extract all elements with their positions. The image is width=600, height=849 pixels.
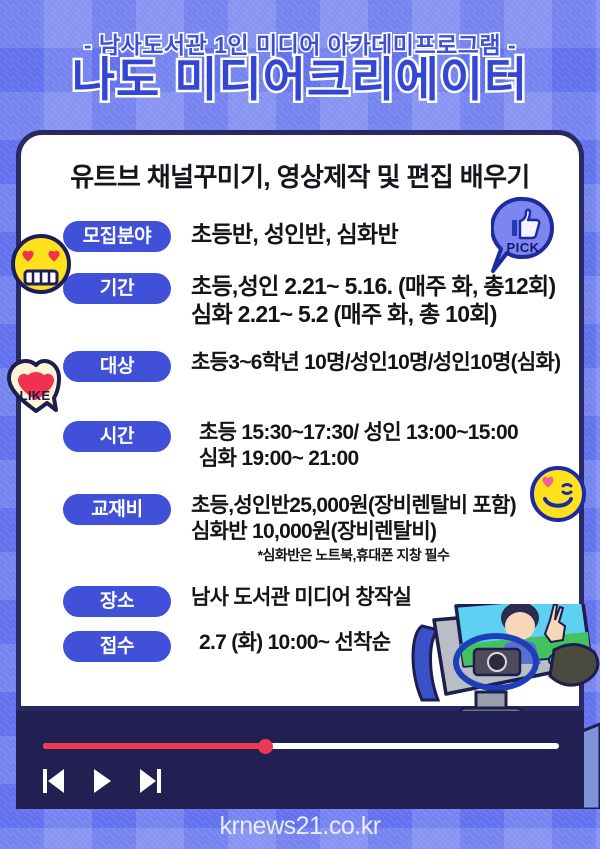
- heart-eyes-emoji-icon: [10, 233, 72, 295]
- playback-controls: [43, 768, 161, 794]
- row-values: 초등,성인반25,000원(장비렌탈비 포함) 심화반 10,000원(장비렌탈…: [191, 493, 516, 565]
- row-value-line: 초등,성인반25,000원(장비렌탈비 포함): [191, 493, 516, 519]
- header-title: 나도 미디어크리에이터: [0, 56, 600, 103]
- like-label: LIKE: [7, 388, 63, 403]
- row-value-line: 남사 도서관 미디어 창작실: [191, 585, 411, 611]
- media-player-bar: [16, 711, 584, 809]
- info-row: 접수 2.7 (화) 10:00~ 선착순: [63, 630, 390, 662]
- info-row: 대상 초등3~6학년 10명/성인10명/성인10명(심화): [63, 350, 560, 382]
- row-values: 남사 도서관 미디어 창작실: [191, 585, 411, 611]
- row-value-line: 초등,성인 2.21~ 5.16. (매주 화, 총12회): [191, 272, 555, 300]
- poster-root: - 남사도서관 1인 미디어 아카데미프로그램 - 나도 미디어크리에이터 유트…: [0, 0, 600, 849]
- row-value-line: 심화 19:00~ 21:00: [199, 446, 518, 472]
- row-values: 2.7 (화) 10:00~ 선착순: [191, 630, 390, 656]
- progress-fill: [43, 743, 265, 749]
- row-values: 초등3~6학년 10명/성인10명/성인10명(심화): [191, 350, 560, 376]
- row-value-line: 심화반 10,000원(장비렌탈비): [191, 519, 516, 545]
- next-track-icon[interactable]: [139, 768, 161, 794]
- row-label-registration: 접수: [63, 631, 171, 662]
- previous-track-icon[interactable]: [43, 768, 65, 794]
- pick-label: PICK: [491, 240, 555, 255]
- play-icon[interactable]: [91, 768, 113, 794]
- row-value-line: 초등3~6학년 10명/성인10명/성인10명(심화): [191, 350, 560, 376]
- card-subtitle: 유트브 채널꾸미기, 영상제작 및 편집 배우기: [21, 157, 579, 194]
- row-value-line: 초등 15:30~17:30/ 성인 13:00~15:00: [199, 420, 518, 446]
- row-label-target: 대상: [63, 351, 171, 382]
- row-values: 초등반, 성인반, 심화반: [191, 220, 398, 248]
- row-value-note: *심화반은 노트북,휴대폰 지창 필수: [191, 545, 516, 565]
- row-values: 초등 15:30~17:30/ 성인 13:00~15:00 심화 19:00~…: [191, 420, 518, 472]
- row-label-recruit-field: 모집분야: [63, 221, 171, 252]
- row-value-line: 2.7 (화) 10:00~ 선착순: [199, 630, 390, 656]
- row-label-period: 기간: [63, 273, 171, 304]
- info-row: 모집분야 초등반, 성인반, 심화반: [63, 220, 398, 252]
- info-row: 기간 초등,성인 2.21~ 5.16. (매주 화, 총12회) 심화 2.2…: [63, 272, 555, 328]
- row-label-material-fee: 교재비: [63, 494, 171, 525]
- info-row: 장소 남사 도서관 미디어 창작실: [63, 585, 411, 617]
- row-label-location: 장소: [63, 586, 171, 617]
- like-heart-sticker: LIKE: [3, 358, 75, 426]
- info-row: 교재비 초등,성인반25,000원(장비렌탈비 포함) 심화반 10,000원(…: [63, 493, 516, 565]
- row-value-line: 초등반, 성인반, 심화반: [191, 220, 398, 248]
- row-label-time: 시간: [63, 421, 171, 452]
- progress-knob[interactable]: [258, 739, 273, 754]
- wink-smiley-sticker: [528, 464, 588, 524]
- progress-slider[interactable]: [43, 743, 559, 749]
- info-row: 시간 초등 15:30~17:30/ 성인 13:00~15:00 심화 19:…: [63, 420, 518, 472]
- pick-badge-sticker: PICK: [491, 196, 563, 276]
- poster-header: - 남사도서관 1인 미디어 아카데미프로그램 - 나도 미디어크리에이터: [0, 0, 600, 124]
- row-values: 초등,성인 2.21~ 5.16. (매주 화, 총12회) 심화 2.21~ …: [191, 272, 555, 328]
- heart-eyes-emoji-sticker: [10, 233, 72, 295]
- pick-thumbs-up-icon: [491, 196, 563, 276]
- site-watermark: krnews21.co.kr: [0, 812, 600, 841]
- wink-smiley-icon: [528, 464, 588, 524]
- row-value-line: 심화 2.21~ 5.2 (매주 화, 총 10회): [191, 300, 555, 328]
